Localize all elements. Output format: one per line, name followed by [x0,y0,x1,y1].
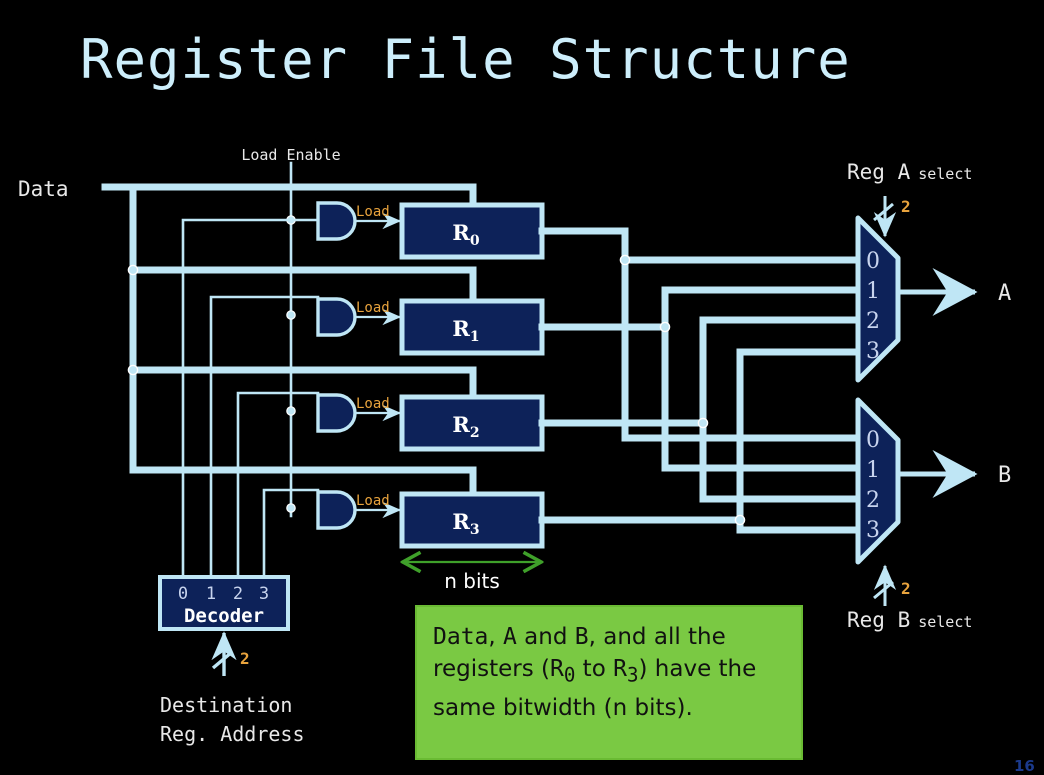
callout-sep-2: and [517,624,575,650]
decoder-output-label-3: 3 [259,584,269,604]
slide-canvas: Register File Structure [0,0,1044,773]
and-gates [318,203,400,528]
callout-sep-4: to [575,656,613,682]
output-wire-junctions [620,255,744,524]
callout-token-r0: R0 [550,656,575,682]
decoder-output-label-2: 2 [233,584,243,604]
callout-line-3: same bitwidth (n bits). [433,692,785,724]
callout-token-b: B [575,624,589,650]
mux-b-input-0: 0 [866,428,880,453]
callout-token-a: A [503,624,517,650]
destination-label-line2: Reg. Address [160,722,305,746]
register-box-r2 [402,397,542,449]
register-box-r0 [402,205,542,257]
register-box-r1 [402,301,542,353]
decoder-output-label-0: 0 [178,584,188,604]
mux-a-input-2: 2 [866,309,880,334]
n-bits-annotation: n bits [404,562,540,593]
mux-a-input-0: 0 [866,249,880,274]
callout-token-data: Data [433,624,488,650]
data-label: Data [18,177,69,201]
callout-token-r3: R3 [613,656,638,682]
output-a-label: A [998,281,1011,306]
load-enable-label: Load Enable [241,146,340,164]
callout-line-2: registers (R0 to R3) have the [433,653,785,692]
n-bits-label: n bits [444,569,500,593]
decoder-output-label-1: 1 [206,584,216,604]
callout-sep-1: , [488,624,503,650]
destination-label-line1: Destination [160,693,292,717]
decoder-output-wires [183,220,318,577]
bitwidth-label-sel-a: 2 [901,197,911,216]
load-label-r3: Load [356,493,390,509]
load-label-r0: Load [356,204,390,220]
bitwidth-label-sel-b: 2 [901,579,911,598]
callout-text-have: ) have the [639,656,757,682]
callout-sep-3: , and all the [589,624,726,650]
mux-b: 0 1 2 3 [858,400,975,606]
reg-a-select-label: Reg Aselect [847,160,972,184]
page-number: 16 [1014,757,1035,775]
register-box-r3 [402,494,542,546]
mux-a-input-3: 3 [866,339,880,364]
callout-box: Data, A and B, and all the registers (R0… [415,605,803,760]
callout-text-registers: registers ( [433,656,550,682]
register-output-wires [542,231,855,530]
reg-b-select-label: Reg Bselect [847,608,972,632]
mux-b-input-1: 1 [866,458,880,483]
mux-b-input-3: 3 [866,518,880,543]
mux-a-input-1: 1 [866,279,880,304]
output-b-label: B [998,463,1011,488]
load-label-r1: Load [356,300,390,316]
decoder-block: 0 1 2 3 Decoder [160,577,288,676]
load-label-r2: Load [356,396,390,412]
callout-line-1: Data, A and B, and all the [433,621,785,653]
mux-a: 0 1 2 3 [858,196,975,380]
decoder-name-label: Decoder [184,605,264,627]
bitwidth-label-dest: 2 [240,649,250,668]
mux-b-input-2: 2 [866,488,880,513]
